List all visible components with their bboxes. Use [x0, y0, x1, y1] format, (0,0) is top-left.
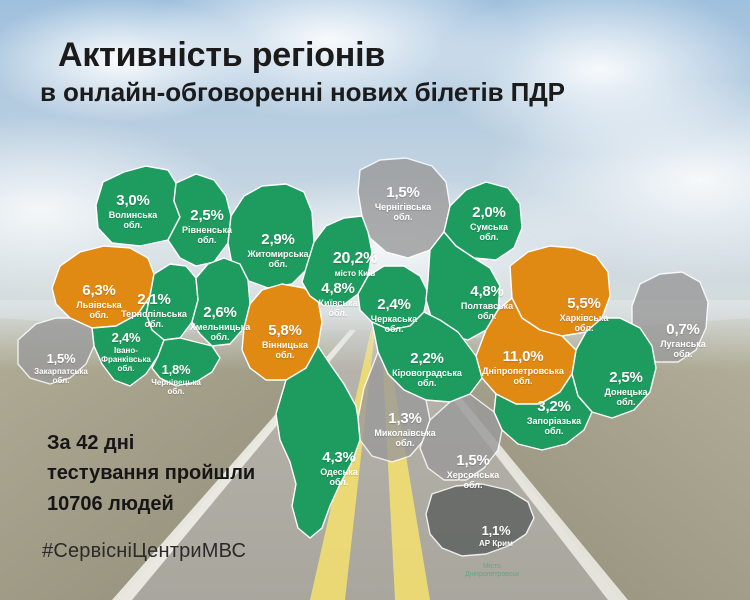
summary-caption: За 42 дні тестування пройшли 10706 людей — [47, 428, 255, 519]
map-watermark: Місто Дніпропетровськ — [465, 563, 519, 580]
region-shape-ternopil[interactable] — [146, 264, 198, 340]
region-shape-chernivtsi[interactable] — [152, 338, 220, 386]
region-shape-kherson[interactable] — [420, 394, 502, 480]
title-line-2: в онлайн-обговоренні нових білетів ПДР — [0, 78, 750, 108]
region-shape-volyn[interactable] — [96, 166, 180, 246]
title-line-1: Активність регіонів — [0, 36, 750, 74]
region-shape-zakarpattia[interactable] — [18, 318, 94, 384]
region-shape-crimea[interactable] — [426, 484, 534, 556]
page-title: Активність регіонів в онлайн-обговоренні… — [0, 36, 750, 108]
hashtag: #СервісніЦентриМВС — [42, 540, 246, 563]
region-shape-khmelnytskyi[interactable] — [192, 258, 250, 346]
infographic-canvas: Активність регіонів в онлайн-обговоренні… — [0, 0, 750, 600]
